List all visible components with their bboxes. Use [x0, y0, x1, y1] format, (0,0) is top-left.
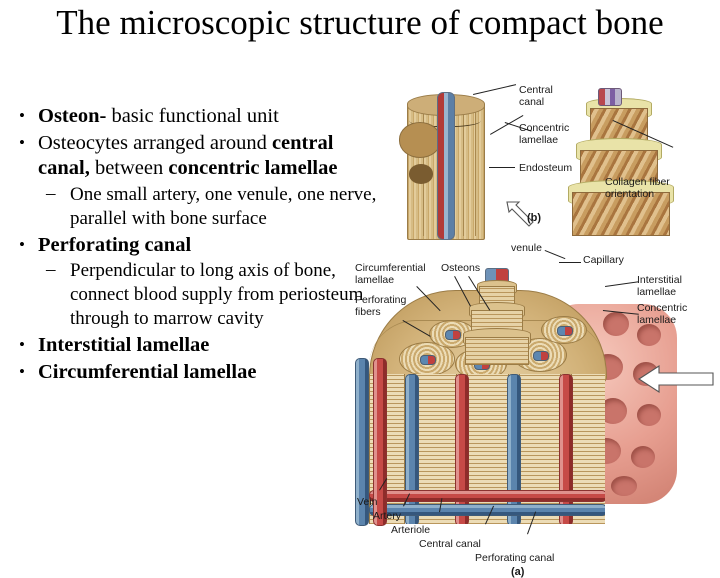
central-canal [445, 330, 461, 340]
label-arteriole: Arteriole [391, 524, 430, 536]
bullet-marker: • [19, 103, 25, 129]
label-perforating-canal: Perforating canal [475, 552, 554, 564]
bullet-circumferential-lamellae-lead: Circumferential lamellae [38, 361, 256, 383]
label-osteons: Osteons [441, 262, 480, 274]
bullet-perforating-canal-lead: Perforating canal [38, 234, 191, 256]
label-perforating-fibers: Perforating fibers [355, 294, 406, 318]
bullet-marker: • [19, 232, 25, 258]
bullet-osteon: •Osteon- basic functional unit [8, 104, 378, 130]
label-collagen-fiber-orientation: Collagen fiber orientation [605, 176, 670, 200]
marrow-space [631, 446, 655, 468]
bullet-circumferential-lamellae: •Circumferential lamellae [8, 360, 378, 386]
bullet-list: •Osteon- basic functional unit •Osteocyt… [8, 104, 378, 386]
bullet-osteocytes: •Osteocytes arranged around central cana… [8, 131, 378, 182]
bullet-marker: • [19, 130, 25, 156]
spongy-bone-arrow [637, 362, 715, 396]
label-endosteum: Endosteum [519, 162, 572, 174]
bullet-perforating-canal: •Perforating canal [8, 233, 378, 259]
osteon-cross-section [541, 316, 587, 344]
label-artery: Artery [373, 510, 401, 522]
slide-title: The microscopic structure of compact bon… [40, 2, 680, 43]
label-panel-b: (b) [527, 212, 541, 224]
bullet-osteon-rest: basic functional unit [106, 105, 279, 127]
osteon-drum [465, 337, 529, 365]
leader-line [489, 167, 515, 168]
collagen-fiber-cylinders [568, 86, 676, 234]
label-circumferential-lamellae: Circumferential lamellae [355, 262, 426, 286]
bullet-marker: • [19, 332, 25, 358]
canal-vessels [598, 88, 622, 106]
label-capillary: Capillary [583, 254, 624, 266]
subbullet-marker: – [46, 258, 56, 282]
bone-notch-inner [409, 164, 433, 184]
label-interstitial-lamellae: Interstitial lamellae [637, 274, 682, 298]
osteon-cylinder-illustration [397, 88, 493, 238]
bullet-osteocytes-rest2: between [90, 157, 169, 179]
leader-line [545, 250, 566, 259]
bullet-interstitial-lamellae: •Interstitial lamellae [8, 333, 378, 359]
label-concentric-lamellae: Concentric lamellae [519, 122, 569, 146]
slide-canvas: The microscopic structure of compact bon… [0, 0, 720, 540]
subbullet-perpendicular-text: Perpendicular to long axis of bone, conn… [70, 260, 363, 329]
label-panel-a: (a) [511, 566, 524, 578]
perforating-vein [369, 504, 605, 516]
leader-line [559, 262, 581, 263]
marrow-space [611, 476, 637, 496]
bone-notch [399, 122, 441, 158]
bullet-marker: • [19, 359, 25, 385]
label-venule: venule [511, 242, 542, 254]
label-central-canal: Central canal [519, 84, 553, 108]
subbullet-artery-venule: –One small artery, one venule, one nerve… [8, 183, 378, 231]
central-canal [533, 351, 549, 361]
lamella-line [475, 106, 476, 236]
subbullet-artery-venule-text: One small artery, one venule, one nerve,… [70, 184, 376, 229]
subbullet-marker: – [46, 182, 56, 206]
subbullet-perpendicular: –Perpendicular to long axis of bone, con… [8, 259, 378, 331]
label-vein: Vein [357, 496, 377, 508]
marrow-space [637, 324, 661, 346]
marrow-space [603, 312, 629, 336]
central-canal-vessels [437, 92, 455, 240]
bullet-osteocytes-end: concentric lamellae [168, 157, 337, 179]
central-canal [420, 355, 436, 365]
bone-anatomy-figure: Central canal Concentric lamellae Endost… [355, 72, 720, 540]
central-canal [557, 326, 573, 336]
bullet-interstitial-lamellae-lead: Interstitial lamellae [38, 334, 209, 356]
bullet-osteon-lead: Osteon- [38, 105, 106, 127]
marrow-space [637, 404, 661, 426]
bullet-osteocytes-rest: Osteocytes arranged around [38, 132, 272, 154]
label-concentric-lamellae-mid: Concentric lamellae [637, 302, 687, 326]
